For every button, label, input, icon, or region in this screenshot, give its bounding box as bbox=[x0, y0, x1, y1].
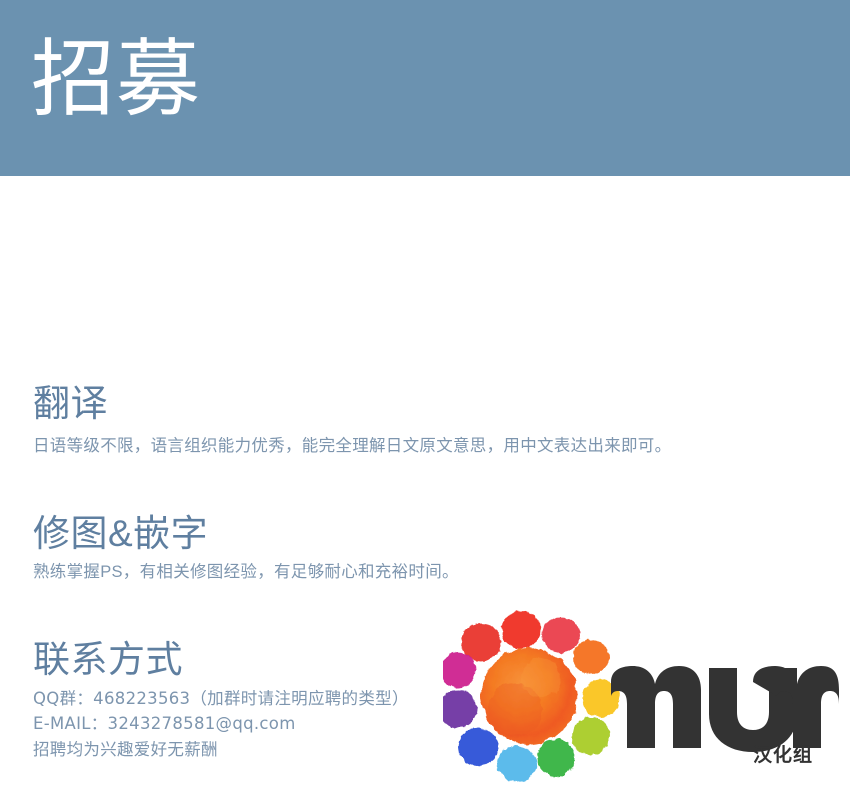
group-logo: 汉化组 bbox=[443, 606, 843, 796]
section-body-retouch-typeset: 熟练掌握PS，有相关修图经验，有足够耐心和充裕时间。 bbox=[33, 560, 459, 585]
contact-qq-group: QQ群：468223563（加群时请注明应聘的类型） bbox=[33, 687, 409, 712]
section-translation: 翻译 日语等级不限，语言组织能力优秀，能完全理解日文原文意思，用中文表达出来即可… bbox=[33, 382, 671, 459]
page-title: 招募 bbox=[31, 34, 201, 125]
watercolor-sun-icon bbox=[443, 606, 628, 791]
section-body-line: 熟练掌握PS，有相关修图经验，有足够耐心和充裕时间。 bbox=[33, 560, 459, 585]
header-band: 招募 bbox=[0, 0, 850, 176]
section-body-contact: QQ群：468223563（加群时请注明应聘的类型） E-MAIL：324327… bbox=[33, 687, 409, 763]
contact-note: 招聘均为兴趣爱好无薪酬 bbox=[33, 738, 409, 763]
section-retouch-typeset: 修图&嵌字 熟练掌握PS，有相关修图经验，有足够耐心和充裕时间。 bbox=[33, 512, 459, 585]
section-heading-retouch-typeset: 修图&嵌字 bbox=[33, 512, 459, 556]
section-body-line: 日语等级不限，语言组织能力优秀，能完全理解日文原文意思，用中文表达出来即可。 bbox=[33, 434, 671, 459]
section-heading-translation: 翻译 bbox=[33, 382, 671, 426]
section-contact: 联系方式 QQ群：468223563（加群时请注明应聘的类型） E-MAIL：3… bbox=[33, 638, 409, 764]
section-heading-contact: 联系方式 bbox=[33, 638, 409, 682]
logo-center-blob bbox=[481, 648, 577, 744]
logo-subtitle: 汉化组 bbox=[753, 740, 813, 767]
contact-email: E-MAIL：3243278581@qq.com bbox=[33, 712, 409, 737]
section-body-translation: 日语等级不限，语言组织能力优秀，能完全理解日文原文意思，用中文表达出来即可。 bbox=[33, 434, 671, 459]
